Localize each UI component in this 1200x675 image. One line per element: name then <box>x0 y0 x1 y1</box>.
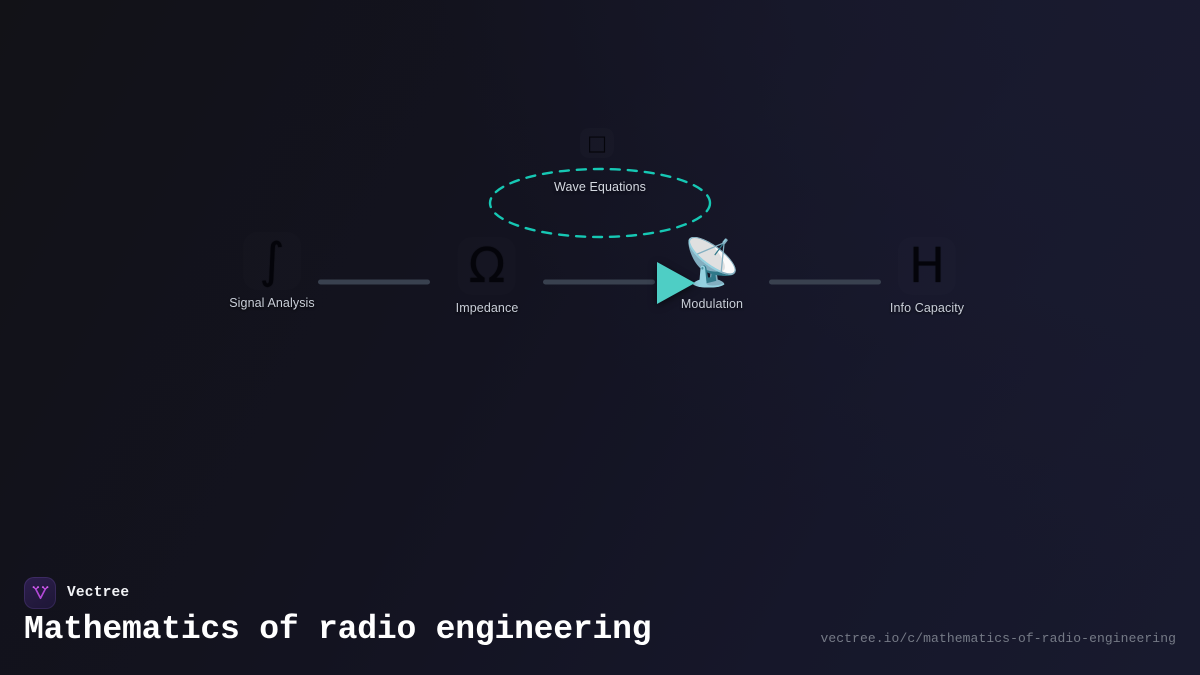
node-label-info-capacity: Info Capacity <box>890 301 964 315</box>
node-label-impedance: Impedance <box>456 301 519 315</box>
omega-symbol-icon: Ω <box>458 237 516 295</box>
page-url: vectree.io/c/mathematics-of-radio-engine… <box>820 631 1176 646</box>
screenshot-root: Wave Equations □ ∫ Signal Analysis Ω Imp… <box>0 0 1200 675</box>
square-outline-glyph: □ <box>580 128 614 158</box>
footer-bar: Vectree Mathematics of radio engineering… <box>0 563 1200 675</box>
entropy-h-symbol-icon: H <box>898 237 956 295</box>
group-label: Wave Equations <box>554 180 646 194</box>
page-title: Mathematics of radio engineering <box>24 611 651 648</box>
group-wave-equations[interactable]: Wave Equations <box>488 167 712 239</box>
brand-name: Vectree <box>67 585 129 601</box>
node-impedance[interactable]: Ω Impedance <box>456 237 519 315</box>
play-cursor-icon[interactable] <box>657 262 695 304</box>
node-label-signal-analysis: Signal Analysis <box>229 296 315 310</box>
brand: Vectree <box>24 577 129 609</box>
edge-impedance-modulation <box>543 280 655 285</box>
vectree-logo-icon <box>24 577 56 609</box>
node-signal-analysis[interactable]: ∫ Signal Analysis <box>229 232 315 310</box>
edge-signal-impedance <box>318 280 430 285</box>
edge-modulation-info <box>769 280 881 285</box>
integral-symbol-icon: ∫ <box>243 232 301 290</box>
node-info-capacity[interactable]: H Info Capacity <box>890 237 964 315</box>
group-ellipse-outline <box>488 167 712 239</box>
